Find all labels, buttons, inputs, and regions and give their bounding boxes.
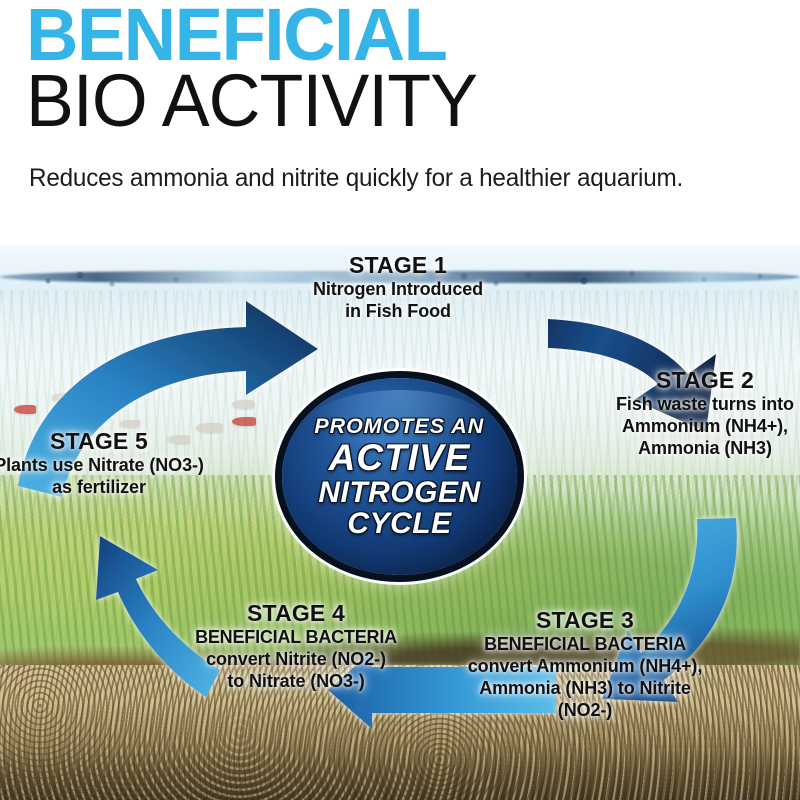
stage-3-line-2: convert Ammonium (NH4+), bbox=[453, 655, 717, 677]
stage-1-line-1: Nitrogen Introduced bbox=[283, 278, 513, 300]
badge-line-4: CYCLE bbox=[347, 508, 451, 539]
stage-2-line-2: Ammonium (NH4+), bbox=[607, 415, 800, 437]
stage-2-title: STAGE 2 bbox=[607, 367, 800, 393]
center-badge: PROMOTES AN ACTIVE NITROGEN CYCLE bbox=[282, 378, 517, 575]
stage-4-title: STAGE 4 bbox=[188, 600, 404, 626]
stage-3-title: STAGE 3 bbox=[453, 607, 717, 633]
stage-2-line-1: Fish waste turns into bbox=[607, 393, 800, 415]
promo-graphic: BENEFICIAL BIO ACTIVITY Reduces ammonia … bbox=[0, 0, 800, 800]
badge-line-2: ACTIVE bbox=[329, 439, 471, 477]
stage-3-line-3: Ammonia (NH3) to Nitrite (NO2-) bbox=[453, 677, 717, 721]
stage-label-1: STAGE 1 Nitrogen Introduced in Fish Food bbox=[283, 252, 513, 322]
stage-4-line-1: BENEFICIAL BACTERIA bbox=[188, 626, 404, 648]
stage-5-line-2: as fertilizer bbox=[0, 476, 212, 498]
stage-5-line-1: Plants use Nitrate (NO3-) bbox=[0, 454, 212, 476]
stage-1-title: STAGE 1 bbox=[283, 252, 513, 278]
badge-text: PROMOTES AN ACTIVE NITROGEN CYCLE bbox=[282, 378, 517, 575]
stage-3-line-1: BENEFICIAL BACTERIA bbox=[453, 633, 717, 655]
stage-label-4: STAGE 4 BENEFICIAL BACTERIA convert Nitr… bbox=[188, 600, 404, 692]
stage-5-title: STAGE 5 bbox=[0, 428, 212, 454]
stage-label-3: STAGE 3 BENEFICIAL BACTERIA convert Ammo… bbox=[453, 607, 717, 721]
badge-line-1: PROMOTES AN bbox=[315, 415, 485, 439]
stage-1-line-2: in Fish Food bbox=[283, 300, 513, 322]
stage-4-line-3: to Nitrate (NO3-) bbox=[188, 670, 404, 692]
badge-line-3: NITROGEN bbox=[318, 477, 480, 508]
stage-label-5: STAGE 5 Plants use Nitrate (NO3-) as fer… bbox=[0, 428, 212, 498]
stage-4-line-2: convert Nitrite (NO2-) bbox=[188, 648, 404, 670]
stage-2-line-3: Ammonia (NH3) bbox=[607, 437, 800, 459]
stage-label-2: STAGE 2 Fish waste turns into Ammonium (… bbox=[607, 367, 800, 459]
